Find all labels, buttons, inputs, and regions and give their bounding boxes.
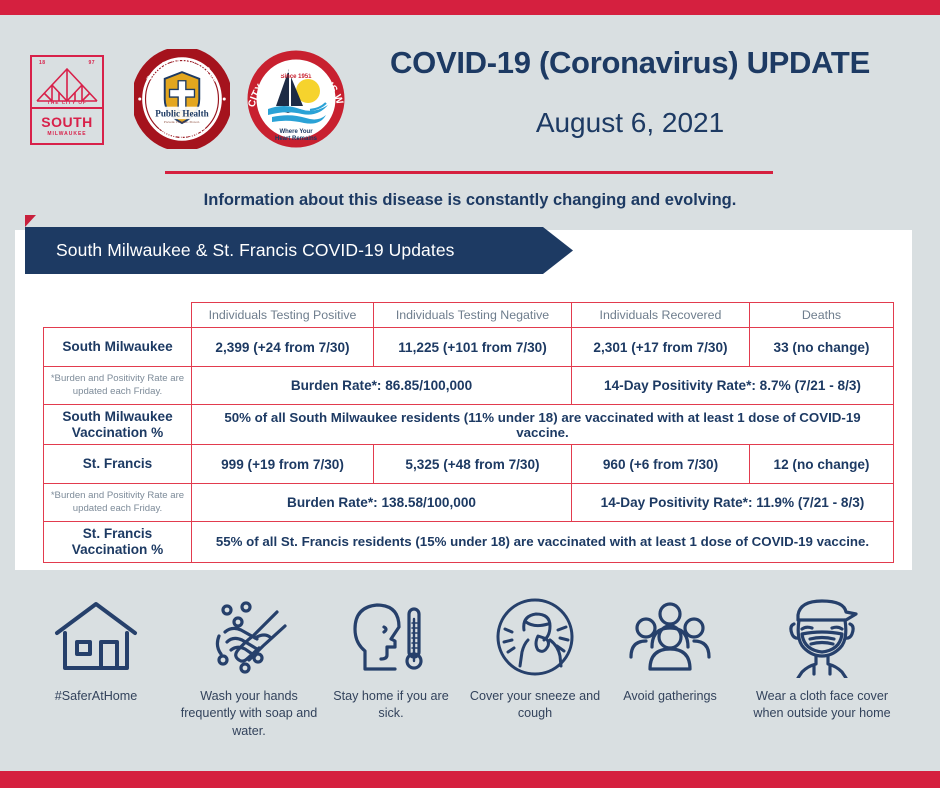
face-mask-icon [740,594,904,680]
sf-deaths-value: 12 (no change) [750,445,894,484]
tip-caption: Cover your sneeze and cough [462,688,608,723]
sm-footnote: *Burden and Positivity Rate are updated … [44,367,192,405]
table-row: *Burden and Positivity Rate are updated … [44,367,894,405]
tip-caption: Stay home if you are sick. [325,688,457,723]
table-row: *Burden and Positivity Rate are updated … [44,484,894,522]
sm-vaccination-text: 50% of all South Milwaukee residents (11… [192,405,894,445]
head-thermometer-icon [325,594,457,680]
column-header-negative: Individuals Testing Negative [374,303,572,328]
tip-avoid-gatherings: Avoid gatherings [612,594,728,705]
table-row: South Milwaukee 2,399 (+24 from 7/30) 11… [44,328,894,367]
tip-caption: #SaferAtHome [18,688,174,705]
tip-caption: Avoid gatherings [612,688,728,705]
st-francis-tagline-1: Where Your [279,129,313,135]
sm-vaccination-label: South Milwaukee Vaccination % [44,405,192,445]
tip-caption: Wear a cloth face cover when outside you… [740,688,904,723]
tip-wear-face-cover: Wear a cloth face cover when outside you… [740,594,904,723]
st-francis-tagline-2: Heart Remains [275,136,318,142]
page-title: COVID-19 (Coronavirus) UPDATE [330,45,930,81]
table-row: South Milwaukee Vaccination % 50% of all… [44,405,894,445]
page-date: August 6, 2021 [330,107,930,139]
sm-negative-value: 11,225 (+101 from 7/30) [374,328,572,367]
bottom-red-bar [0,771,940,788]
logo-group: 18 97 THE CI [22,37,332,147]
table-row: St. Francis 999 (+19 from 7/30) 5,325 (+… [44,445,894,484]
header-section: 18 97 THE CI [0,15,940,215]
tip-cover-sneeze: Cover your sneeze and cough [462,594,608,723]
prevention-tips-section: #SaferAtHome Wash your hands frequently … [0,590,940,765]
logo-city-of-text: THE CITY OF [32,100,102,105]
sm-positivity-rate: 14-Day Positivity Rate*: 8.7% (7/21 - 8/… [572,367,894,405]
infographic-page: 18 97 THE CI [0,0,940,788]
house-icon [18,594,174,680]
sf-vaccination-text: 55% of all St. Francis residents (15% un… [192,522,894,562]
sm-burden-rate: Burden Rate*: 86.85/100,000 [192,367,572,405]
sf-burden-rate: Burden Rate*: 138.58/100,000 [192,484,572,522]
public-health-seal-logo: Public Health Prevent. Promote. Protect.… [134,49,230,149]
ribbon-corner-accent [25,215,36,227]
sf-vaccination-label-line2: Vaccination % [50,542,185,558]
group-people-icon [612,594,728,680]
sf-positive-value: 999 (+19 from 7/30) [192,445,374,484]
ribbon-label: South Milwaukee & St. Francis COVID-19 U… [25,240,455,261]
table-corner-cell [44,303,192,328]
sf-footnote: *Burden and Positivity Rate are updated … [44,484,192,522]
column-header-deaths: Deaths [750,303,894,328]
sf-vaccination-label: St. Francis Vaccination % [44,522,192,562]
tip-safer-at-home: #SaferAtHome [18,594,174,705]
washing-hands-icon [176,594,322,680]
column-header-recovered: Individuals Recovered [572,303,750,328]
card-ribbon-banner: South Milwaukee & St. Francis COVID-19 U… [25,227,573,274]
covid-stats-table: Individuals Testing Positive Individuals… [43,302,894,563]
tip-caption: Wash your hands frequently with soap and… [176,688,322,740]
sm-vaccination-label-line2: Vaccination % [50,425,185,441]
logo-milwaukee-text: MILWAUKEE [47,131,86,137]
row-label-south-milwaukee: South Milwaukee [44,328,192,367]
sf-negative-value: 5,325 (+48 from 7/30) [374,445,572,484]
top-red-bar [0,0,940,15]
public-health-center-text: Public Health [155,108,208,118]
sm-deaths-value: 33 (no change) [750,328,894,367]
public-health-center-subtext: Prevent. Promote. Protect. [164,120,200,124]
sf-vaccination-label-line1: St. Francis [50,526,185,542]
south-milwaukee-city-logo: 18 97 THE CI [30,55,104,145]
header-divider [165,171,773,174]
sm-recovered-value: 2,301 (+17 from 7/30) [572,328,750,367]
sm-vaccination-label-line1: South Milwaukee [50,409,185,425]
row-label-st-francis: St. Francis [44,445,192,484]
sf-recovered-value: 960 (+6 from 7/30) [572,445,750,484]
page-subtitle: Information about this disease is consta… [40,191,900,210]
tip-wash-hands: Wash your hands frequently with soap and… [176,594,322,740]
table-row: St. Francis Vaccination % 55% of all St.… [44,522,894,562]
sf-positivity-rate: 14-Day Positivity Rate*: 11.9% (7/21 - 8… [572,484,894,522]
table-header-row: Individuals Testing Positive Individuals… [44,303,894,328]
logo-south-text: SOUTH [41,115,93,129]
column-header-positive: Individuals Testing Positive [192,303,374,328]
sm-positive-value: 2,399 (+24 from 7/30) [192,328,374,367]
sneeze-cover-icon [462,594,608,680]
tip-stay-home-if-sick: Stay home if you are sick. [325,594,457,723]
